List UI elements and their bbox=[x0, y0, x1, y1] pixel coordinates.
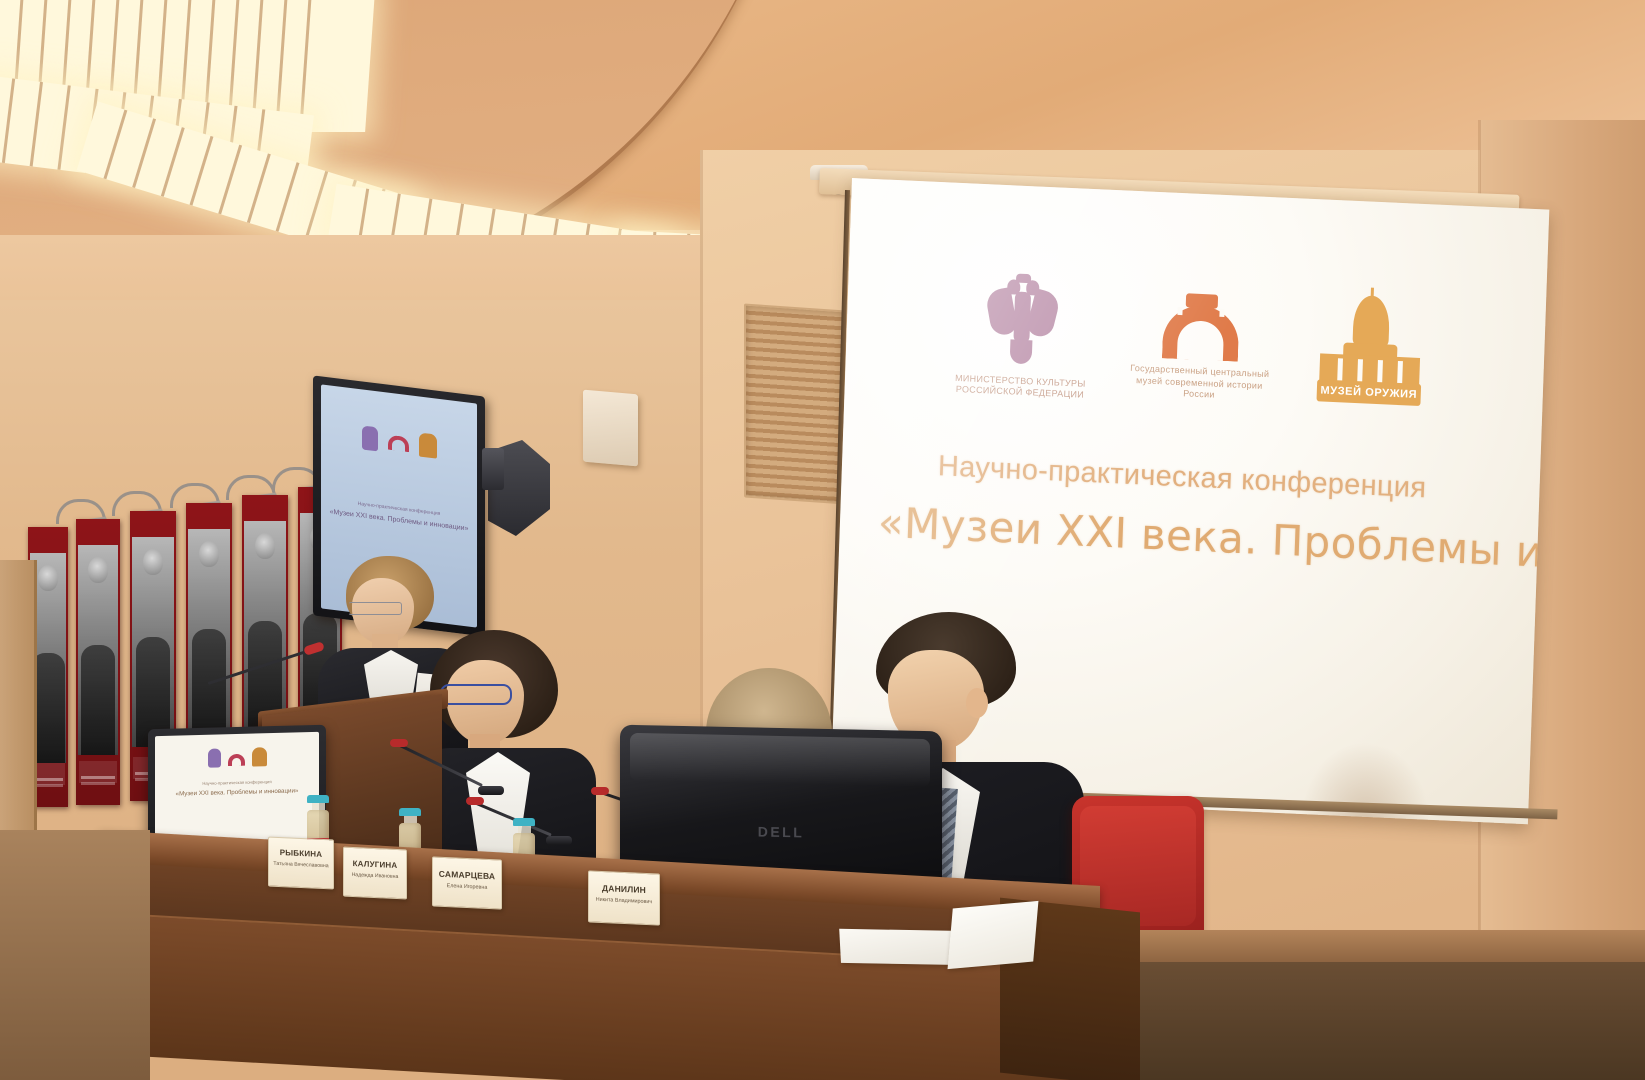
wall-speaker bbox=[583, 390, 638, 467]
nameplate-surname: РЫБКИНА bbox=[269, 848, 333, 860]
nameplate-surname: КАЛУГИНА bbox=[344, 859, 406, 871]
laptop-weapons-logo-icon bbox=[252, 747, 267, 766]
laptop-ministry-logo-icon bbox=[208, 748, 221, 767]
mic-head bbox=[390, 739, 408, 747]
bottle-neck bbox=[312, 803, 325, 810]
state-central-museum-logo: Государственный центральный музей соврем… bbox=[1129, 291, 1272, 403]
museum-of-weapons-band: МУЗЕЙ ОРУЖИЯ bbox=[1316, 379, 1421, 406]
nameplate-patronymic: Елена Игоревна bbox=[433, 882, 501, 891]
nameplate: РЫБКИНА Татьяна Вячеславовна bbox=[268, 837, 334, 890]
nameplate-surname: САМАРЦЕВА bbox=[433, 868, 501, 881]
tv-wall-mount-arm bbox=[482, 448, 504, 490]
slide-logo-row: МИНИСТЕРСТВО КУЛЬТУРЫ РОССИЙСКОЙ ФЕДЕРАЦ… bbox=[954, 225, 1429, 416]
museum-of-weapons-logo: МУЗЕЙ ОРУЖИЯ bbox=[1312, 293, 1428, 416]
laptop-logo-row bbox=[155, 746, 319, 769]
table-microphone bbox=[472, 800, 558, 803]
tv-arch-logo-icon bbox=[388, 435, 409, 453]
bottle-cap bbox=[307, 795, 329, 803]
podium-microphone bbox=[208, 632, 318, 694]
ear bbox=[966, 688, 988, 718]
floor-right bbox=[1140, 962, 1645, 1080]
eyeglasses bbox=[348, 602, 402, 615]
nameplate: КАЛУГИНА Надежда Ивановна bbox=[343, 847, 407, 900]
mic-base bbox=[478, 786, 504, 795]
bottle-cap bbox=[513, 818, 535, 826]
laptop-arch-logo-icon bbox=[228, 754, 245, 766]
papers-sheet bbox=[948, 901, 1039, 969]
slide-subtitle: Научно-практическая конференция bbox=[937, 450, 1498, 508]
wall-baseboard bbox=[1140, 930, 1645, 964]
nameplate: ДАНИЛИН Никита Владимирович bbox=[588, 870, 660, 925]
mic-stem bbox=[208, 646, 319, 685]
bottle-neck bbox=[404, 816, 417, 823]
eyeglasses bbox=[440, 684, 512, 705]
mic-base bbox=[546, 836, 572, 845]
nameplate-patronymic: Никита Владимирович bbox=[589, 896, 659, 905]
ventilation-grille bbox=[744, 303, 846, 504]
bottle-cap bbox=[399, 808, 421, 816]
mic-head bbox=[466, 797, 484, 805]
screen-glare bbox=[630, 733, 930, 787]
museum-tower-icon: МУЗЕЙ ОРУЖИЯ bbox=[1312, 293, 1428, 416]
laptop-subtitle: Научно-практическая конференция bbox=[155, 778, 319, 787]
mic-head bbox=[591, 787, 609, 795]
nameplate-surname: ДАНИЛИН bbox=[589, 882, 659, 895]
tv-weapons-logo-icon bbox=[419, 432, 437, 458]
arch-icon bbox=[1158, 292, 1244, 362]
dell-logo: DELL bbox=[758, 824, 805, 841]
exhibition-banner bbox=[76, 519, 120, 805]
nameplate-patronymic: Татьяна Вячеславовна bbox=[269, 861, 333, 870]
nameplate-patronymic: Надежда Ивановна bbox=[344, 872, 406, 881]
table-microphone bbox=[396, 742, 492, 745]
laptop-title: «Музеи XXI века. Проблемы и инновации» bbox=[155, 787, 319, 798]
ministry-of-culture-logo: МИНИСТЕРСТВО КУЛЬТУРЫ РОССИЙСКОЙ ФЕДЕРАЦ… bbox=[954, 270, 1089, 400]
floor-left bbox=[0, 830, 150, 1080]
conference-hall-photo: МИНИСТЕРСТВО КУЛЬТУРЫ РОССИЙСКОЙ ФЕДЕРАЦ… bbox=[0, 0, 1645, 1080]
nameplate: САМАРЦЕВА Елена Игоревна bbox=[432, 856, 502, 909]
double-headed-eagle-icon bbox=[985, 272, 1060, 371]
tv-ministry-logo-icon bbox=[362, 425, 378, 451]
bottle-neck bbox=[518, 826, 531, 833]
slide-title: «Музеи XXI века. Проблемы и инновации» bbox=[877, 498, 1538, 577]
